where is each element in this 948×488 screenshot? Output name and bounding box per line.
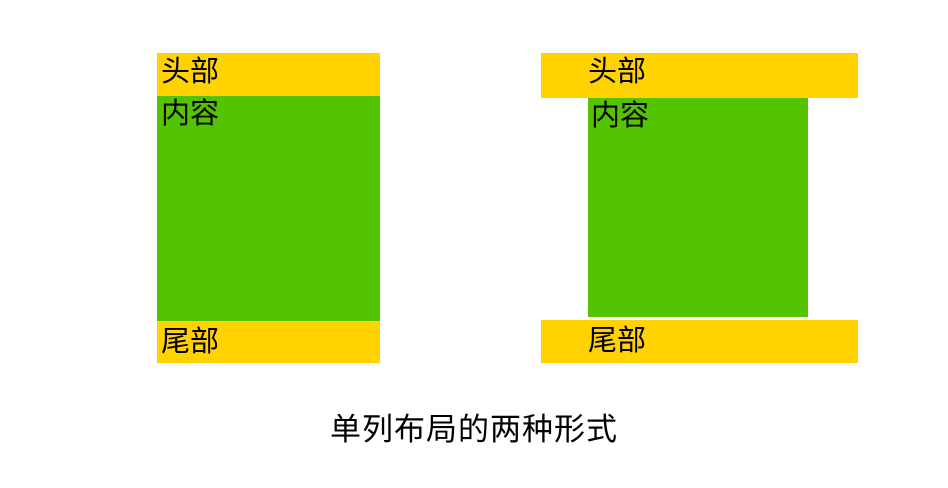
right-content-label: 内容 — [591, 101, 808, 131]
left-diagram-content-block: 内容 — [157, 96, 380, 321]
single-column-layout-diagram-left: 头部 内容 尾部 — [157, 53, 380, 363]
figure-canvas: 头部 内容 尾部 头部 内容 尾部 单列布局的两种形式 — [0, 0, 948, 488]
right-diagram-content-block: 内容 — [588, 98, 808, 317]
left-footer-label: 尾部 — [161, 327, 380, 357]
left-header-label: 头部 — [161, 57, 380, 87]
left-diagram-header-block: 头部 — [157, 53, 380, 96]
left-diagram-footer-block: 尾部 — [157, 321, 380, 363]
right-diagram-footer-block: 尾部 — [541, 320, 858, 363]
right-diagram-header-block: 头部 — [541, 53, 858, 98]
figure-caption: 单列布局的两种形式 — [0, 413, 948, 447]
single-column-layout-diagram-right: 头部 内容 尾部 — [541, 53, 858, 363]
right-footer-label: 尾部 — [588, 326, 858, 356]
right-header-label: 头部 — [588, 57, 858, 87]
left-content-label: 内容 — [161, 99, 380, 129]
